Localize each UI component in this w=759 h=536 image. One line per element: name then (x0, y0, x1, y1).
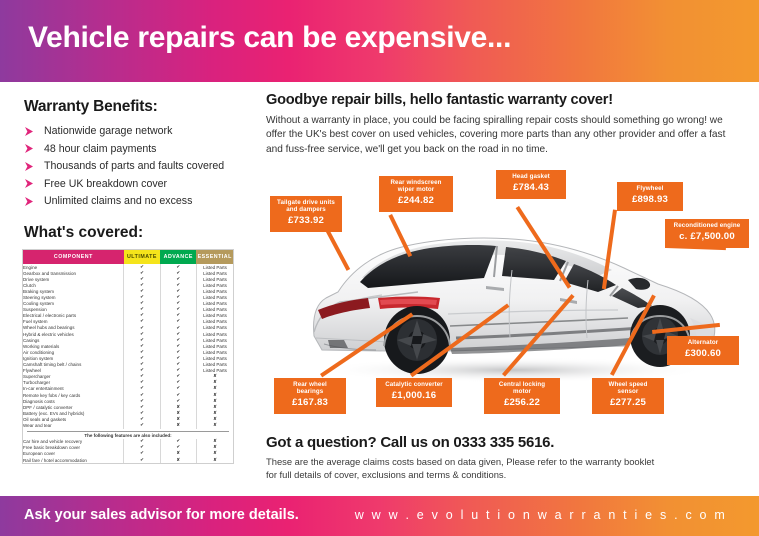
cell-component-name: Rail fare / hotel accommodation (23, 457, 124, 463)
callout-wiper-motor: Rear windscreen wiper motor £244.82 (379, 176, 453, 212)
callout-reconditioned-engine: Reconditioned engine c. £7,500.00 (665, 219, 749, 248)
list-item: 48 hour claim payments (24, 143, 252, 155)
callout-flywheel: Flywheel £898.93 (617, 182, 683, 211)
right-column: Goodbye repair bills, hello fantastic wa… (266, 92, 736, 157)
coverage-table-container: Component ULTIMATE ADVANCE ESSENTIAL Eng… (22, 249, 234, 464)
callout-label: Catalytic converter (382, 382, 446, 389)
poster-page: Vehicle repairs can be expensive... Warr… (0, 0, 759, 536)
page-footer: Ask your sales advisor for more details.… (0, 496, 759, 536)
table-row: Rail fare / hotel accommodation✔✘✘ (23, 457, 233, 463)
benefit-label: Thousands of parts and faults covered (44, 160, 224, 172)
callout-label: Tailgate drive units and dampers (276, 200, 336, 214)
benefit-label: Free UK breakdown cover (44, 178, 167, 190)
callout-amount: c. £7,500.00 (671, 232, 743, 243)
question-disclaimer: These are the average claims costs based… (266, 456, 666, 482)
left-column: Warranty Benefits: Nationwide garage net… (24, 98, 252, 242)
table-head: Component ULTIMATE ADVANCE ESSENTIAL (23, 250, 233, 264)
list-item: Nationwide garage network (24, 125, 252, 137)
column-header-ultimate: ULTIMATE (124, 250, 160, 264)
benefit-label: Unlimited claims and no excess (44, 195, 192, 207)
footer-cta: Ask your sales advisor for more details. (24, 507, 299, 523)
callout-label: Head gasket (502, 174, 560, 181)
callout-amount: £244.82 (385, 196, 447, 207)
whats-covered-heading: What's covered: (24, 224, 252, 242)
callout-label: Rear wheel bearings (280, 382, 340, 396)
list-item: Free UK breakdown cover (24, 178, 252, 190)
callout-amount: £256.22 (490, 398, 554, 409)
callout-central-locking-motor: Central locking motor £256.22 (484, 378, 560, 414)
callout-label: Flywheel (623, 186, 677, 193)
callout-wheel-speed-sensor: Wheel speed sensor £277.25 (592, 378, 664, 414)
question-heading: Got a question? Call us on 0333 335 5616… (266, 434, 666, 451)
footer-website[interactable]: w w w . e v o l u t i o n w a r r a n t … (355, 508, 727, 522)
coverage-table: Component ULTIMATE ADVANCE ESSENTIAL Eng… (23, 250, 233, 463)
cover-heading: Goodbye repair bills, hello fantastic wa… (266, 92, 736, 108)
benefit-label: Nationwide garage network (44, 125, 172, 137)
callout-label: Rear windscreen wiper motor (385, 180, 447, 194)
callout-amount: £733.92 (276, 216, 336, 227)
column-header-essential: ESSENTIAL (196, 250, 233, 264)
cell-excluded: ✘ (160, 457, 196, 463)
list-item: Unlimited claims and no excess (24, 195, 252, 207)
callout-amount: £167.83 (280, 398, 340, 409)
cover-body-text: Without a warranty in place, you could b… (266, 114, 736, 157)
callout-amount: £898.93 (623, 195, 677, 206)
callout-amount: £784.43 (502, 183, 560, 194)
callout-tailgate: Tailgate drive units and dampers £733.92 (270, 196, 342, 232)
page-title: Vehicle repairs can be expensive... (28, 21, 511, 55)
callout-label: Wheel speed sensor (598, 382, 658, 396)
callout-amount: £300.60 (673, 349, 733, 360)
chevron-right-icon (24, 143, 35, 154)
cell-excluded: ✘ (196, 457, 233, 463)
callout-amount: £1,000.16 (382, 391, 446, 402)
column-header-component: Component (23, 250, 124, 264)
benefit-label: 48 hour claim payments (44, 143, 156, 155)
question-block: Got a question? Call us on 0333 335 5616… (266, 434, 666, 482)
callout-label: Central locking motor (490, 382, 554, 396)
chevron-right-icon (24, 161, 35, 172)
callout-label: Alternator (673, 340, 733, 347)
callout-label: Reconditioned engine (671, 223, 743, 230)
callout-rear-wheel-bearings: Rear wheel bearings £167.83 (274, 378, 346, 414)
benefits-heading: Warranty Benefits: (24, 98, 252, 116)
chevron-right-icon (24, 196, 35, 207)
callout-amount: £277.25 (598, 398, 658, 409)
chevron-right-icon (24, 178, 35, 189)
column-header-advance: ADVANCE (160, 250, 196, 264)
list-item: Thousands of parts and faults covered (24, 160, 252, 172)
page-header: Vehicle repairs can be expensive... (0, 0, 759, 82)
car-diagram: Tailgate drive units and dampers £733.92… (262, 158, 756, 426)
callout-catalytic-converter: Catalytic converter £1,000.16 (376, 378, 452, 407)
benefits-list: Nationwide garage network 48 hour claim … (24, 125, 252, 207)
table-body: Engine✔✔Listed PartsGearbox and transmis… (23, 264, 233, 463)
chevron-right-icon (24, 126, 35, 137)
callout-head-gasket: Head gasket £784.43 (496, 170, 566, 199)
cell-included: ✔ (124, 457, 160, 463)
callout-alternator: Alternator £300.60 (667, 336, 739, 365)
table-header-row: Component ULTIMATE ADVANCE ESSENTIAL (23, 250, 233, 264)
